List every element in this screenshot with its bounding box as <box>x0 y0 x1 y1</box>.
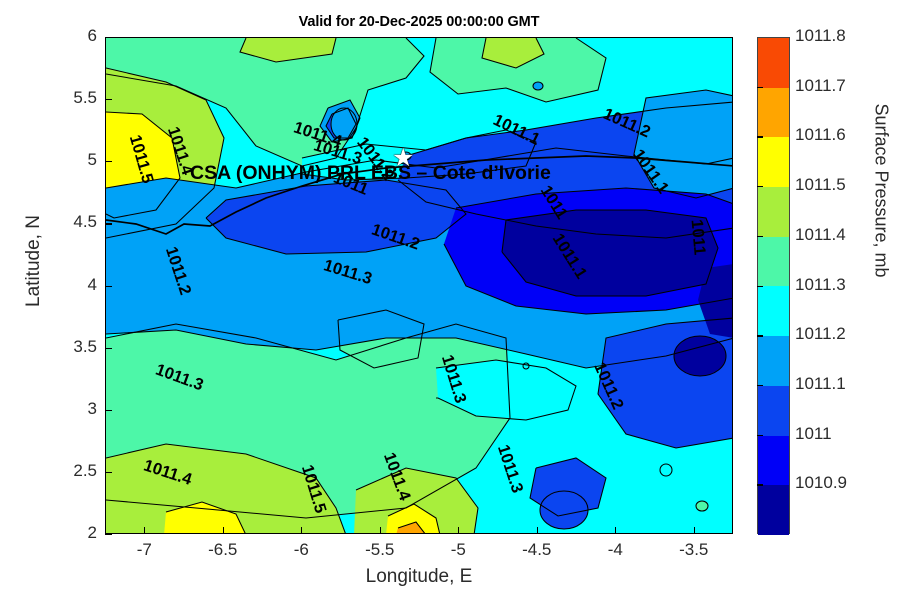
x-tick-label: -4.5 <box>502 540 572 560</box>
star-marker: ★ <box>392 146 414 171</box>
colorbar-tick-mark <box>757 186 763 187</box>
y-tick-mark <box>105 161 112 162</box>
colorbar-tick-label: 1011.5 <box>795 175 846 195</box>
colorbar-tick-label: 1011.4 <box>795 225 846 245</box>
x-axis-label: Longitude, E <box>105 566 733 588</box>
y-tick-mark <box>105 286 112 287</box>
y-tick-label: 4.5 <box>37 212 97 232</box>
colorbar-segment <box>758 38 789 88</box>
x-tick-label: -4 <box>580 540 650 560</box>
colorbar-segment <box>758 88 789 138</box>
y-tick-label: 5.5 <box>37 88 97 108</box>
x-tick-label: -7 <box>109 540 179 560</box>
colorbar-segment <box>758 187 789 237</box>
figure-root: Valid for 20-Dec-2025 00:00:00 GMT <box>0 0 900 600</box>
colorbar-segment <box>758 436 789 486</box>
x-tick-mark <box>144 527 145 534</box>
y-tick-mark <box>105 472 112 473</box>
x-tick-label: -3.5 <box>659 540 729 560</box>
colorbar-tick-label: 1011.3 <box>795 275 846 295</box>
colorbar-tick-label: 1011.1 <box>795 374 846 394</box>
x-tick-mark <box>380 527 381 534</box>
colorbar-title: Surface Pressure, mb <box>871 76 892 306</box>
y-tick-label: 3 <box>37 399 97 419</box>
y-tick-mark <box>105 348 112 349</box>
colorbar-segment <box>758 286 789 336</box>
colorbar-tick-label: 1011.2 <box>795 324 846 344</box>
y-tick-mark <box>105 223 112 224</box>
contour-plot-axes[interactable]: 1011.5 1011.4 1011.4 1011.3 1011.2 1011 … <box>105 37 733 534</box>
x-tick-label: -5 <box>423 540 493 560</box>
colorbar-segment <box>758 386 789 436</box>
y-tick-mark <box>105 99 112 100</box>
x-tick-mark <box>537 527 538 534</box>
y-tick-label: 2.5 <box>37 461 97 481</box>
colorbar-tick-mark <box>757 286 763 287</box>
y-tick-mark <box>105 410 112 411</box>
figure-title: Valid for 20-Dec-2025 00:00:00 GMT <box>105 14 733 30</box>
x-tick-mark <box>223 527 224 534</box>
x-tick-label: -6.5 <box>188 540 258 560</box>
contour-surface <box>106 38 733 534</box>
y-tick-label: 6 <box>37 26 97 46</box>
y-tick-mark <box>105 37 112 38</box>
x-tick-label: -5.5 <box>345 540 415 560</box>
colorbar-tick-mark <box>757 435 763 436</box>
colorbar-tick-mark <box>757 236 763 237</box>
colorbar-segment <box>758 485 789 535</box>
colorbar-tick-mark <box>757 385 763 386</box>
x-tick-mark <box>615 527 616 534</box>
colorbar-segment <box>758 336 789 386</box>
contour-label: 1011 <box>687 219 709 256</box>
colorbar-tick-mark <box>757 87 763 88</box>
colorbar-tick-label: 1011 <box>795 424 832 444</box>
colorbar-tick-mark <box>757 484 763 485</box>
colorbar-segment <box>758 137 789 187</box>
colorbar-tick-mark <box>757 136 763 137</box>
x-tick-label: -6 <box>266 540 336 560</box>
x-tick-mark <box>694 527 695 534</box>
colorbar-tick-label: 1010.9 <box>795 473 847 493</box>
colorbar-tick-mark <box>757 335 763 336</box>
colorbar-segment <box>758 237 789 287</box>
y-tick-label: 5 <box>37 150 97 170</box>
colorbar-tick-label: 1011.7 <box>795 76 846 96</box>
x-tick-mark <box>301 527 302 534</box>
colorbar-tick-label: 1011.6 <box>795 125 846 145</box>
y-tick-label: 4 <box>37 275 97 295</box>
site-annotation-label: CSA (ONHYM) PRL EBS – Cote d’Ivorie <box>190 162 551 185</box>
y-tick-label: 2 <box>37 523 97 543</box>
y-tick-label: 3.5 <box>37 337 97 357</box>
colorbar-tick-label: 1011.8 <box>795 26 846 46</box>
y-tick-mark <box>105 534 112 535</box>
x-tick-mark <box>458 527 459 534</box>
